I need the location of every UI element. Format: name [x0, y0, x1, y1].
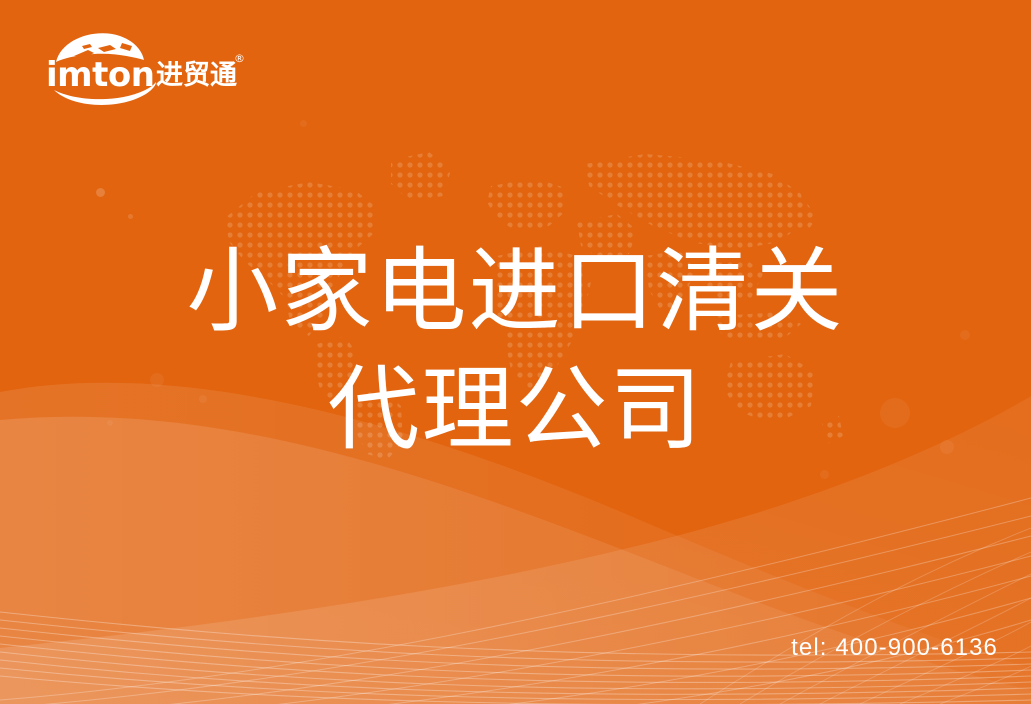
brand-logo[interactable]: imton 进贸通 ®: [38, 26, 248, 108]
bokeh-circle: [820, 470, 829, 479]
brand-logo-graphic: imton 进贸通 ®: [38, 26, 248, 108]
page-title-line-2: 代理公司: [0, 351, 1031, 469]
bokeh-circle: [128, 214, 133, 219]
bokeh-circle: [96, 188, 105, 197]
bokeh-circle: [300, 120, 307, 127]
page-title: 小家电进口清关 代理公司: [0, 233, 1031, 469]
contact-phone[interactable]: tel: 400-900-6136: [791, 634, 998, 662]
page-title-line-1: 小家电进口清关: [0, 233, 1031, 351]
logo-wordmark: imton: [46, 55, 154, 95]
logo-chinese-name: 进贸通: [156, 60, 237, 91]
trademark-symbol: ®: [234, 52, 245, 65]
poster-canvas: imton 进贸通 ® 小家电进口清关 代理公司 tel: 400-900-61…: [0, 0, 1031, 704]
